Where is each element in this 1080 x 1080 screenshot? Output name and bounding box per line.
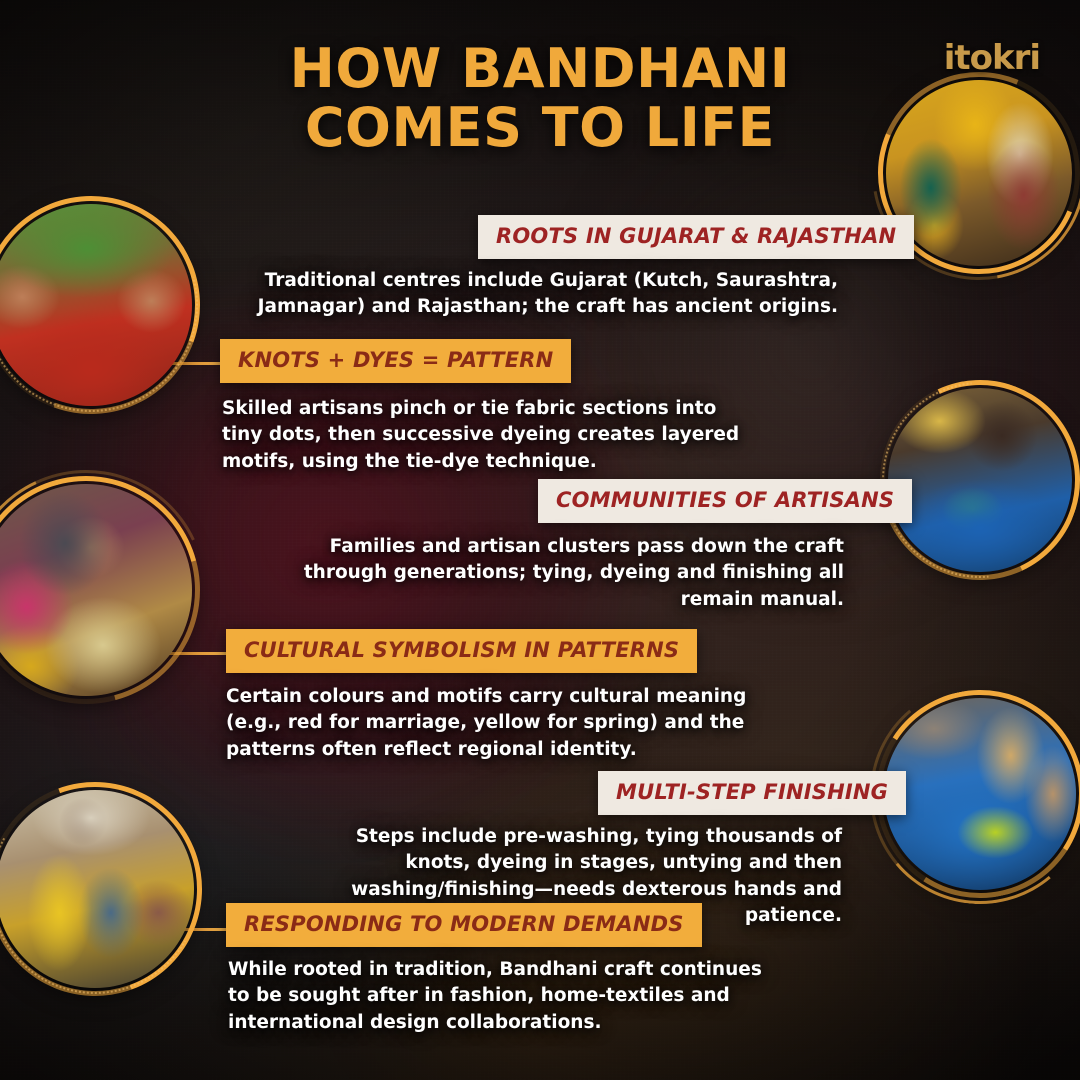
itokri-logo: itokri (944, 38, 1040, 78)
banner-knots-dyes-label: KNOTS + DYES = PATTERN (238, 348, 553, 372)
banner-knots-dyes: KNOTS + DYES = PATTERN (220, 339, 571, 383)
banner-symbolism: CULTURAL SYMBOLISM IN PATTERNS (226, 629, 697, 673)
banner-finishing: MULTI-STEP FINISHING (598, 771, 906, 815)
banner-finishing-label: MULTI-STEP FINISHING (616, 780, 888, 804)
banner-symbolism-label: CULTURAL SYMBOLISM IN PATTERNS (244, 638, 679, 662)
photo-image-yellow-cloth (0, 790, 194, 988)
photo-hands-knots (0, 196, 200, 414)
title-line-2: COMES TO LIFE (0, 99, 1080, 158)
body-symbolism: Certain colours and motifs carry cultura… (226, 684, 768, 763)
body-communities: Families and artisan clusters pass down … (244, 534, 844, 613)
photo-blue-dye-vat (876, 690, 1080, 898)
logo-text: itokri (944, 38, 1040, 78)
body-knots-dyes: Skilled artisans pinch or tie fabric sec… (222, 396, 750, 475)
banner-modern: RESPONDING TO MODERN DEMANDS (226, 903, 702, 947)
title-line-1: HOW BANDHANI (0, 40, 1080, 99)
banner-modern-label: RESPONDING TO MODERN DEMANDS (244, 912, 684, 936)
photo-image-blue-dye-vat (884, 698, 1076, 890)
infographic-poster: itokri HOW BANDHANI COMES TO LIFE (0, 0, 1080, 1080)
page-title: HOW BANDHANI COMES TO LIFE (0, 40, 1080, 158)
photo-image-dyer-vat (888, 388, 1072, 572)
body-modern: While rooted in tradition, Bandhani craf… (228, 957, 784, 1036)
photo-yellow-cloth (0, 782, 202, 996)
photo-image-seated-artisan (0, 484, 192, 696)
photo-image-hands-knots (0, 204, 192, 406)
banner-roots: ROOTS IN GUJARAT & RAJASTHAN (478, 215, 914, 259)
body-roots: Traditional centres include Gujarat (Kut… (248, 268, 838, 321)
banner-communities: COMMUNITIES OF ARTISANS (538, 479, 912, 523)
photo-seated-artisan (0, 476, 200, 704)
banner-communities-label: COMMUNITIES OF ARTISANS (556, 488, 894, 512)
banner-roots-label: ROOTS IN GUJARAT & RAJASTHAN (496, 224, 896, 248)
